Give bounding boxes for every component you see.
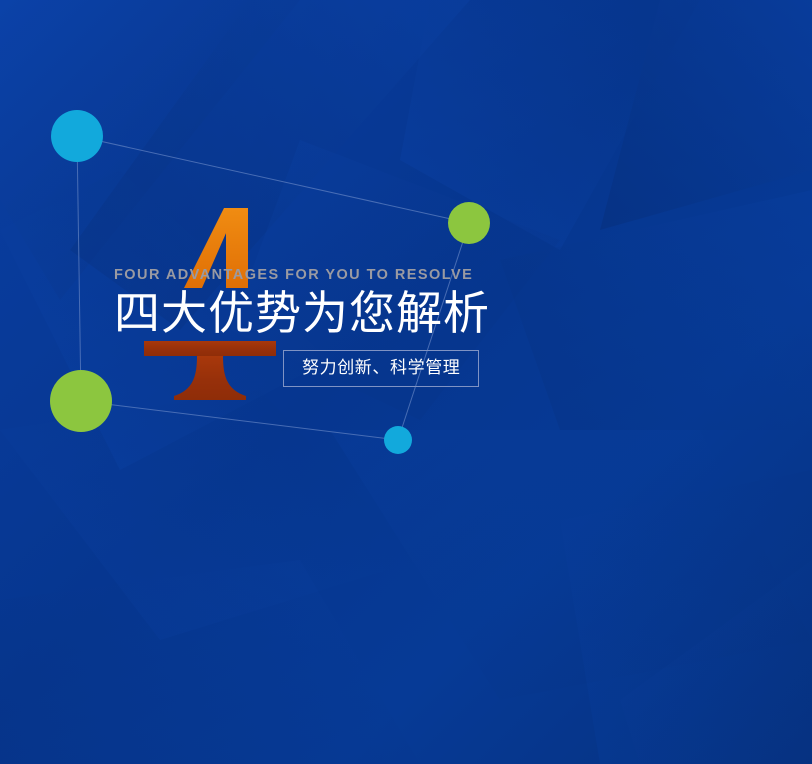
line-cyan-to-green-left — [77, 136, 81, 401]
tagline-badge: 努力创新、科学管理 — [283, 350, 479, 388]
dot-green-small — [448, 202, 490, 244]
dot-cyan-large — [51, 110, 103, 162]
banner-stage: FOUR ADVANTAGES FOR YOU TO RESOLVE 四大优势为… — [0, 0, 812, 764]
banner-text-block: FOUR ADVANTAGES FOR YOU TO RESOLVE 四大优势为… — [114, 268, 754, 387]
line-cyan-to-green-right — [77, 136, 469, 223]
tagline-row: 努力创新、科学管理 — [283, 350, 479, 388]
dot-cyan-small — [384, 426, 412, 454]
dot-green-large — [50, 370, 112, 432]
line-green-to-cyan-bottom — [81, 401, 398, 440]
page-title: 四大优势为您解析 — [114, 289, 754, 339]
english-subtitle: FOUR ADVANTAGES FOR YOU TO RESOLVE — [114, 268, 754, 284]
